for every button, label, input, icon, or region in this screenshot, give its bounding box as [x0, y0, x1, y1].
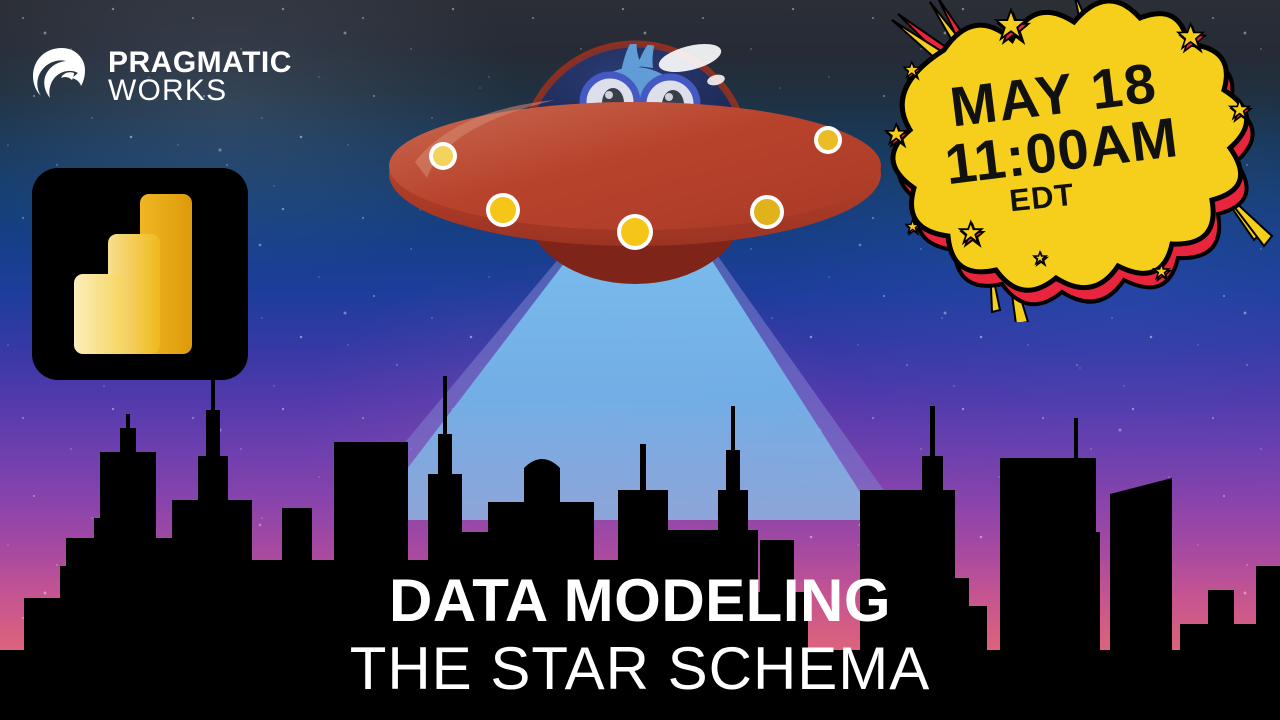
burst-graphic: MAY 18 11:00AM EDT — [878, 0, 1280, 322]
brand-logo[interactable]: PRAGMATIC WORKS — [30, 45, 292, 109]
webinar-promo-graphic: PRAGMATIC WORKS — [0, 0, 1280, 720]
brand-wordmark: PRAGMATIC WORKS — [108, 49, 292, 104]
event-date-badge[interactable]: MAY 18 11:00AM EDT — [878, 0, 1280, 322]
pragmatic-works-eagle-icon — [30, 45, 94, 109]
power-bi-badge[interactable] — [32, 168, 248, 380]
power-bi-icon — [32, 168, 248, 380]
brand-line-2: WORKS — [108, 77, 292, 105]
page-subtitle: THE STAR SCHEMA — [0, 635, 1280, 702]
ufo-with-bird — [385, 0, 885, 314]
title-block: DATA MODELING THE STAR SCHEMA — [0, 571, 1280, 702]
page-title: DATA MODELING — [0, 571, 1280, 631]
brand-line-1: PRAGMATIC — [108, 49, 292, 77]
event-timezone-text: EDT — [1008, 177, 1076, 219]
